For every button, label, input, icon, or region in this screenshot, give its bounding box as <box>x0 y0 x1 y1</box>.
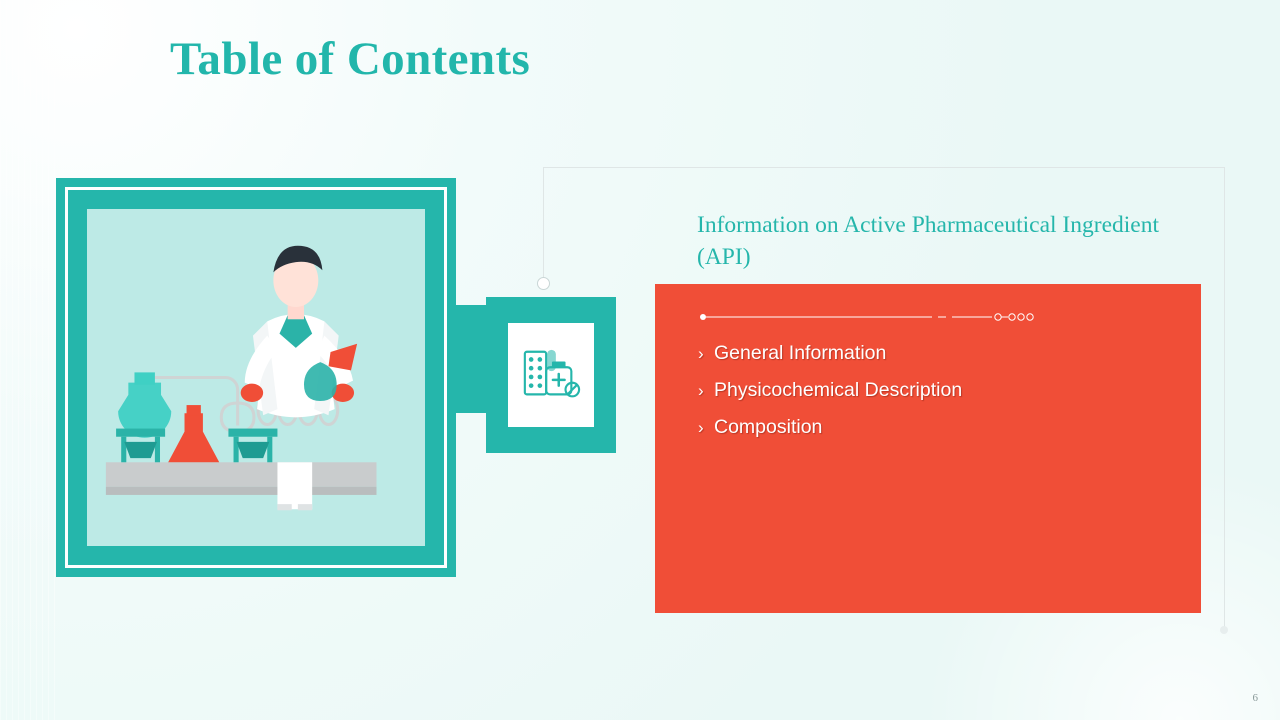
divider-ornament <box>700 311 1040 323</box>
icon-box <box>486 297 616 453</box>
connector-dot-right <box>1220 626 1228 634</box>
background-texture <box>0 0 60 720</box>
illustration-frame <box>56 178 456 577</box>
chevron-right-icon: › <box>698 344 714 364</box>
connector-line-left <box>543 167 544 277</box>
chevron-right-icon: › <box>698 418 714 438</box>
illustration-frame-border <box>65 187 447 568</box>
list-item-label: General Information <box>714 342 886 365</box>
slide: Table of Contents <box>0 0 1280 720</box>
connector-block <box>456 305 486 413</box>
content-panel: › General Information › Physicochemical … <box>655 284 1201 613</box>
scientist-in-laboratory-illustration <box>87 209 425 546</box>
connector-line-top <box>543 167 1225 168</box>
list-item[interactable]: › General Information <box>698 342 1178 365</box>
panel-divider-rule <box>700 317 1040 318</box>
connector-dot-left <box>537 277 550 290</box>
icon-box-inner <box>508 323 594 427</box>
list-item[interactable]: › Composition <box>698 416 1178 439</box>
laboratory-illustration <box>87 209 425 546</box>
page-title: Table of Contents <box>170 32 530 86</box>
section-heading: Information on Active Pharmaceutical Ing… <box>697 209 1167 273</box>
chevron-right-icon: › <box>698 381 714 401</box>
list-item-label: Physicochemical Description <box>714 379 962 402</box>
list-item[interactable]: › Physicochemical Description <box>698 379 1178 402</box>
content-bullet-list: › General Information › Physicochemical … <box>698 342 1178 453</box>
list-item-label: Composition <box>714 416 822 439</box>
medicine-pills-bottle-icon <box>520 344 582 406</box>
connector-line-right <box>1224 167 1225 630</box>
slide-number: 6 <box>1253 692 1259 704</box>
